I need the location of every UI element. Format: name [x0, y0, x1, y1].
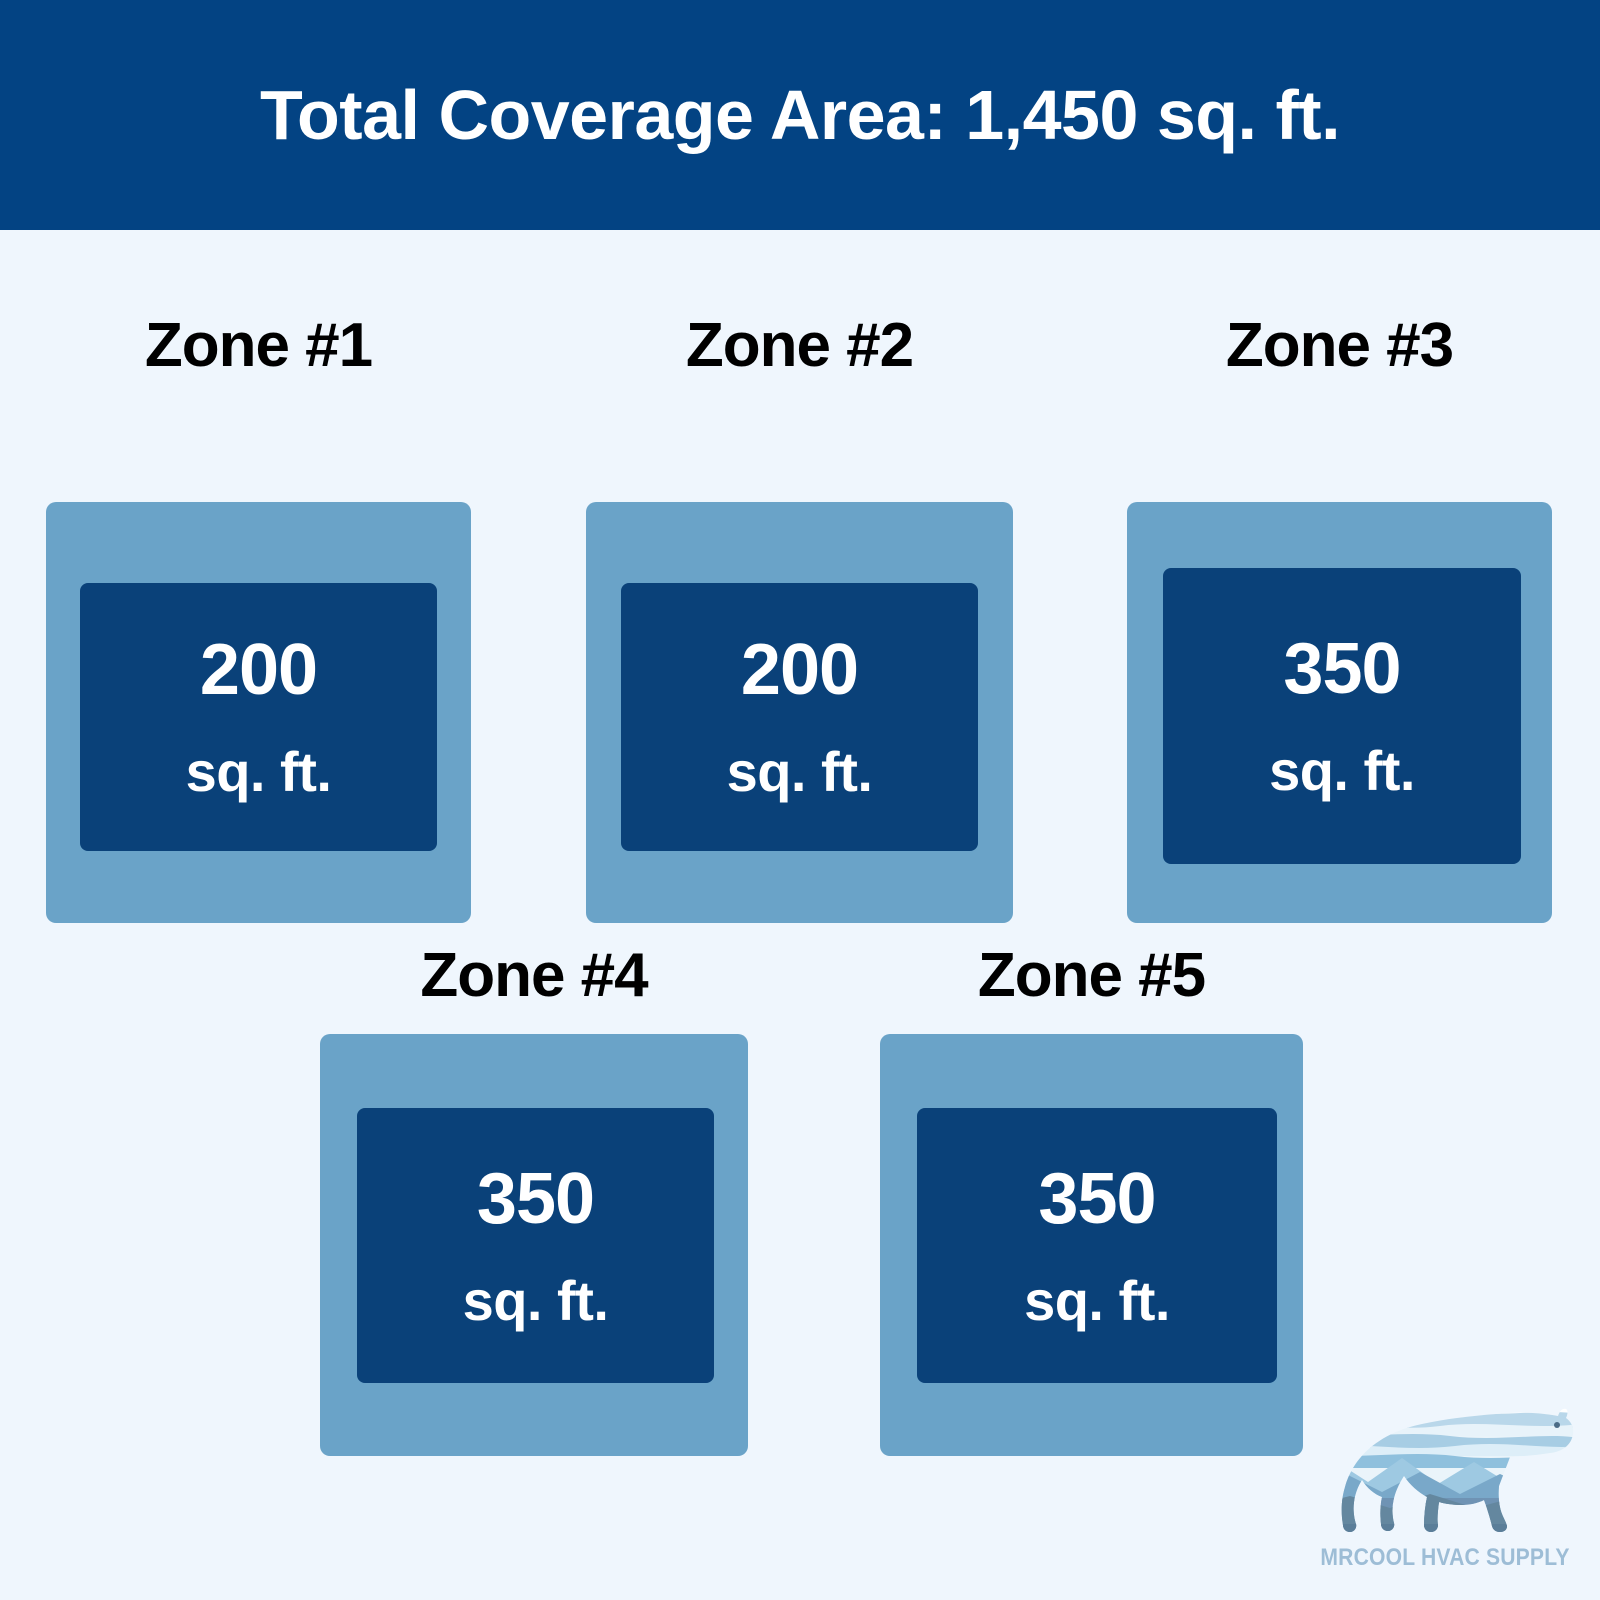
- zone-outer-box-5: 350 sq. ft.: [880, 1034, 1303, 1456]
- zone-outer-box-2: 200 sq. ft.: [586, 502, 1013, 923]
- page-title: Total Coverage Area: 1,450 sq. ft.: [260, 80, 1340, 150]
- zone-inner-box-2: 200 sq. ft.: [621, 583, 978, 851]
- polar-bear-icon: [1310, 1378, 1580, 1543]
- zone-label-1: Zone #1: [46, 315, 471, 377]
- zone-label-5: Zone #5: [880, 945, 1303, 1007]
- zone-outer-box-1: 200 sq. ft.: [46, 502, 471, 923]
- zone-label-4: Zone #4: [320, 945, 748, 1007]
- zone-unit-5: sq. ft.: [1024, 1273, 1170, 1329]
- zone-outer-box-3: 350 sq. ft.: [1127, 502, 1552, 923]
- zone-inner-box-1: 200 sq. ft.: [80, 583, 437, 851]
- zone-card-2[interactable]: Zone #2 200 sq. ft.: [586, 285, 1013, 923]
- brand-logo: MRCOOL HVAC SUPPLY: [1300, 1378, 1590, 1590]
- header-banner: Total Coverage Area: 1,450 sq. ft.: [0, 0, 1600, 230]
- zone-outer-box-4: 350 sq. ft.: [320, 1034, 748, 1456]
- brand-name: MRCOOL HVAC SUPPLY: [1317, 1544, 1572, 1572]
- zone-label-2: Zone #2: [586, 315, 1013, 377]
- zone-unit-3: sq. ft.: [1269, 743, 1415, 799]
- zone-value-1: 200: [200, 634, 317, 706]
- zone-card-5[interactable]: Zone #5 350 sq. ft.: [880, 920, 1303, 1460]
- zone-inner-box-3: 350 sq. ft.: [1163, 568, 1521, 864]
- zone-card-4[interactable]: Zone #4 350 sq. ft.: [320, 920, 748, 1460]
- zone-card-1[interactable]: Zone #1 200 sq. ft.: [46, 285, 471, 923]
- zone-inner-box-4: 350 sq. ft.: [357, 1108, 714, 1383]
- zone-value-3: 350: [1283, 633, 1400, 705]
- zone-unit-2: sq. ft.: [727, 744, 873, 800]
- zone-label-3: Zone #3: [1127, 315, 1552, 377]
- zone-unit-4: sq. ft.: [463, 1273, 609, 1329]
- zone-value-4: 350: [477, 1163, 594, 1235]
- zone-card-3[interactable]: Zone #3 350 sq. ft.: [1127, 285, 1552, 923]
- zone-value-5: 350: [1038, 1163, 1155, 1235]
- zone-unit-1: sq. ft.: [186, 744, 332, 800]
- zone-inner-box-5: 350 sq. ft.: [917, 1108, 1277, 1383]
- zone-value-2: 200: [741, 634, 858, 706]
